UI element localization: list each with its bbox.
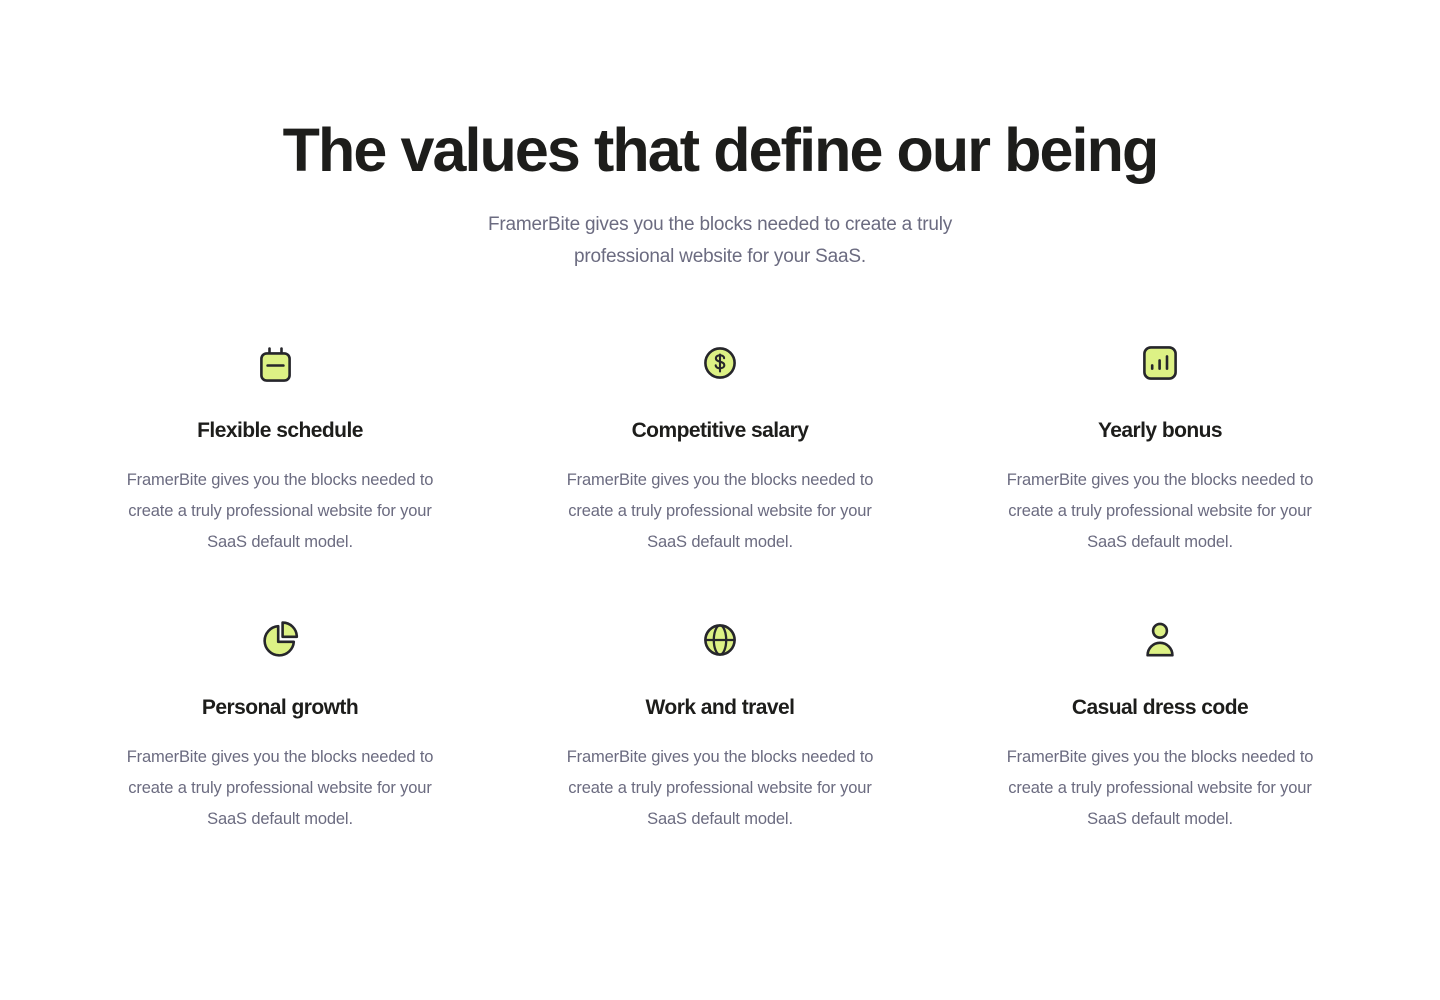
card-body: FramerBite gives you the blocks needed t…	[550, 465, 890, 558]
card-title: Competitive salary	[632, 417, 809, 445]
section-header: The values that define our being FramerB…	[0, 0, 1440, 273]
pie-chart-icon	[256, 616, 304, 664]
card-body: FramerBite gives you the blocks needed t…	[990, 465, 1330, 558]
card-body: FramerBite gives you the blocks needed t…	[110, 465, 450, 558]
values-section: The values that define our being FramerB…	[0, 0, 1440, 1000]
card-body: FramerBite gives you the blocks needed t…	[990, 742, 1330, 835]
bar-chart-icon	[1136, 339, 1184, 387]
person-icon	[1136, 616, 1184, 664]
card-title: Flexible schedule	[197, 417, 363, 445]
page-subtitle: FramerBite gives you the blocks needed t…	[460, 209, 980, 273]
values-grid: Flexible schedule FramerBite gives you t…	[60, 339, 1380, 835]
globe-icon	[696, 616, 744, 664]
value-card: Competitive salary FramerBite gives you …	[500, 339, 940, 558]
calendar-icon	[256, 339, 304, 387]
card-title: Personal growth	[202, 694, 358, 722]
page-title: The values that define our being	[283, 118, 1158, 183]
card-title: Casual dress code	[1072, 694, 1248, 722]
card-title: Work and travel	[646, 694, 795, 722]
value-card: Personal growth FramerBite gives you the…	[60, 616, 500, 835]
card-body: FramerBite gives you the blocks needed t…	[110, 742, 450, 835]
value-card: Work and travel FramerBite gives you the…	[500, 616, 940, 835]
card-body: FramerBite gives you the blocks needed t…	[550, 742, 890, 835]
card-title: Yearly bonus	[1098, 417, 1222, 445]
value-card: Casual dress code FramerBite gives you t…	[940, 616, 1380, 835]
dollar-coin-icon	[696, 339, 744, 387]
value-card: Flexible schedule FramerBite gives you t…	[60, 339, 500, 558]
value-card: Yearly bonus FramerBite gives you the bl…	[940, 339, 1380, 558]
